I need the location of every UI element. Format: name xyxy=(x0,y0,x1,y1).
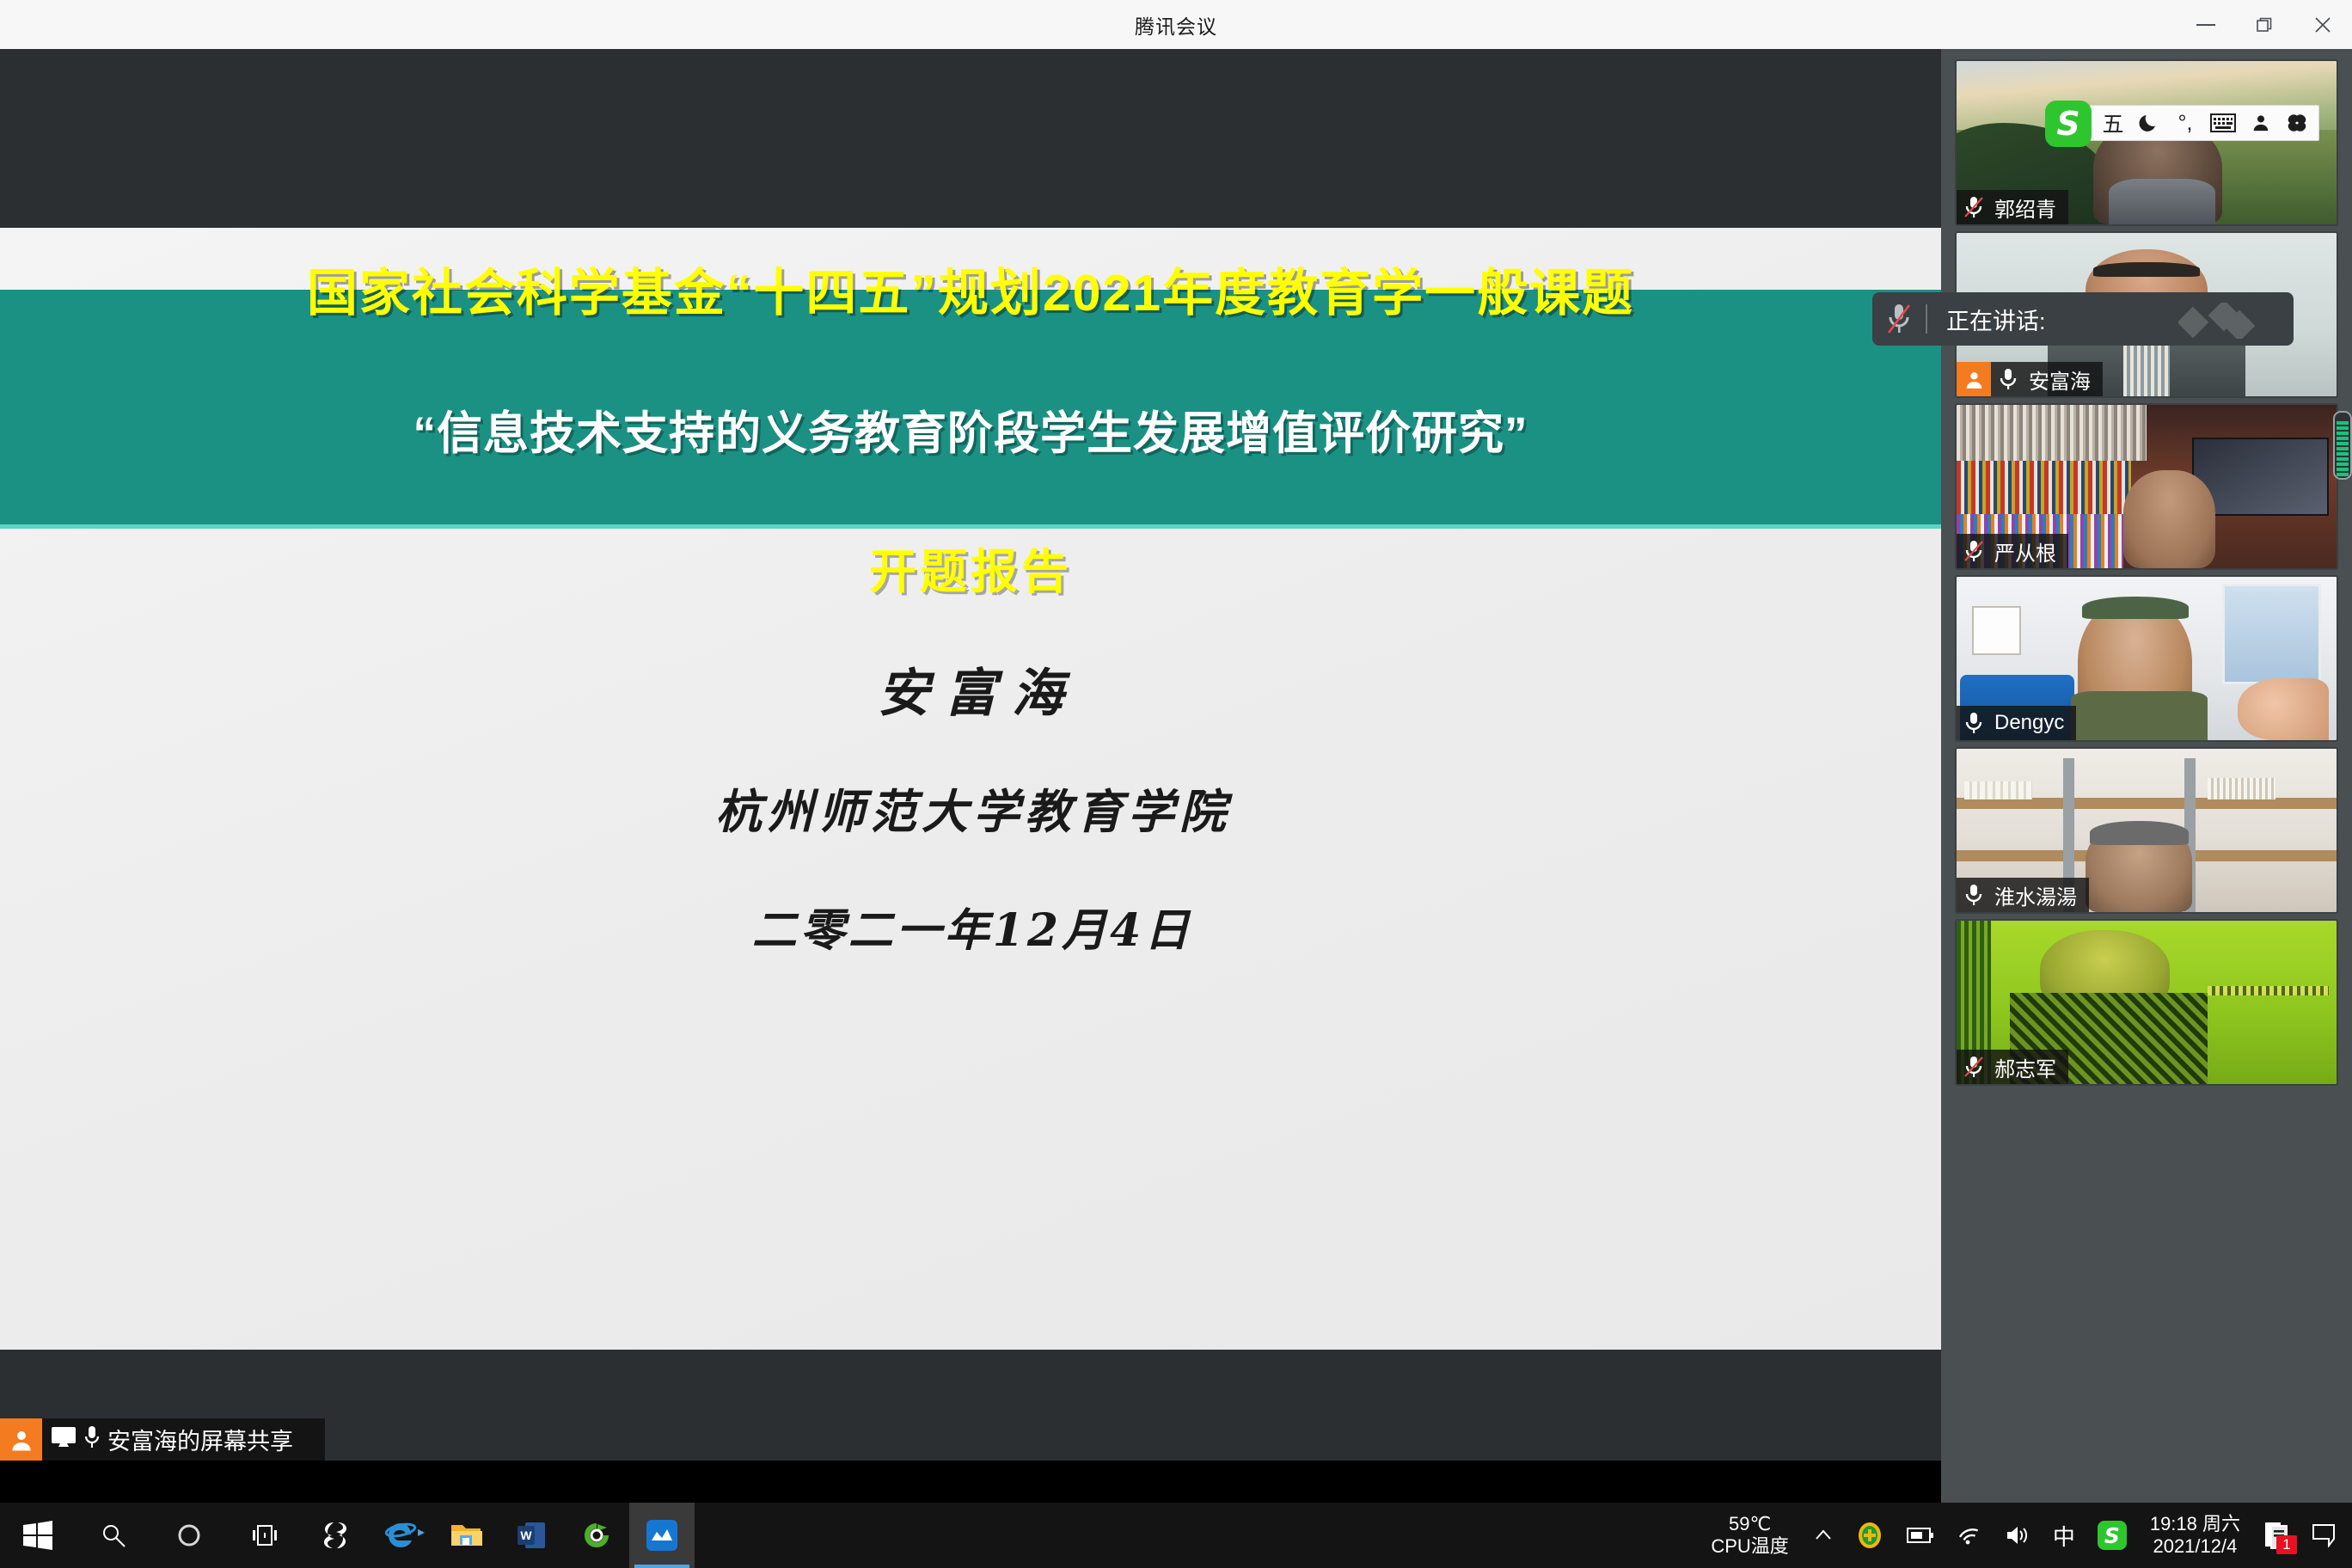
user-icon[interactable] xyxy=(2250,113,2272,132)
moon-icon[interactable] xyxy=(2138,113,2160,133)
punctuation-mode-icon[interactable]: °, xyxy=(2174,111,2196,136)
meter-bar xyxy=(2337,457,2349,461)
minimize-button[interactable] xyxy=(2177,0,2235,49)
svg-text:W: W xyxy=(520,1528,532,1542)
battery-icon[interactable] xyxy=(1896,1503,1945,1568)
search-icon[interactable] xyxy=(76,1503,151,1568)
wifi-icon[interactable] xyxy=(1945,1503,1994,1568)
microphone-muted-icon xyxy=(1872,292,1926,346)
meter-bar xyxy=(2337,468,2349,471)
slide-title-line2: “信息技术支持的义务教育阶段学生发展增值评价研究” xyxy=(0,397,1941,462)
participant-name: Dengyc xyxy=(1991,711,2064,735)
participant-name: 严从根 xyxy=(1991,536,2056,567)
sogou-ime-toolbar[interactable]: S 五 °, xyxy=(2063,105,2319,141)
window-controls xyxy=(2177,0,2352,49)
windows-taskbar: ▸ W 59℃ CPU温度 xyxy=(0,1503,2352,1568)
cpu-temp-label: CPU温度 xyxy=(1711,1535,1788,1558)
task-view-icon[interactable] xyxy=(227,1503,303,1568)
toolbox-icon[interactable] xyxy=(2286,113,2308,133)
start-button[interactable] xyxy=(0,1503,76,1568)
participant-tile[interactable]: 严从根 xyxy=(1955,403,2338,570)
participant-name-chip: Dengyc xyxy=(1957,706,2076,740)
screen-share-owner-label: 安富海的屏幕共享 xyxy=(101,1423,293,1456)
participants-sidebar[interactable]: 郭绍青 安富海 xyxy=(1941,49,2352,1503)
meter-bar xyxy=(2337,473,2349,476)
slide-date: 二零二一年12月4日 xyxy=(0,894,1941,959)
sogou-input-icon[interactable] xyxy=(303,1503,368,1568)
input-mode-wubi[interactable]: 五 xyxy=(2102,107,2124,138)
meter-bar xyxy=(2337,426,2349,430)
clock-time: 19:18 周六 xyxy=(2150,1513,2240,1535)
meter-bar xyxy=(2337,421,2349,425)
participant-name: 郭绍青 xyxy=(1991,193,2056,223)
meter-bar xyxy=(2337,447,2349,450)
microphone-icon xyxy=(83,1425,101,1454)
cortana-icon[interactable] xyxy=(151,1503,227,1568)
microphone-muted-icon xyxy=(1957,1055,1991,1079)
file-explorer-icon[interactable] xyxy=(433,1503,499,1568)
share-bar-icons xyxy=(42,1425,101,1454)
participant-name-chip: 郭绍青 xyxy=(1957,190,2068,224)
microphone-muted-icon xyxy=(1957,539,1991,563)
tencent-meeting-icon[interactable] xyxy=(629,1503,695,1568)
tencent-meeting-watermark-icon xyxy=(2178,303,2273,343)
participant-tile[interactable]: Dengyc xyxy=(1955,575,2338,742)
window-title-bar: 腾讯会议 xyxy=(0,0,2352,49)
participant-name-chip: 淮水湯湯 xyxy=(1957,878,2089,912)
sogou-logo-icon[interactable]: S xyxy=(2045,101,2092,147)
meter-bar xyxy=(2337,437,2349,440)
notes-icon[interactable]: 1 xyxy=(2252,1503,2300,1568)
internet-explorer-icon[interactable]: ▸ xyxy=(368,1503,433,1568)
restore-button[interactable] xyxy=(2235,0,2294,49)
person-avatar-icon xyxy=(0,1418,42,1461)
slide-affiliation: 杭州师范大学教育学院 xyxy=(0,774,1941,842)
slide-title-line3: 开题报告 xyxy=(0,533,1941,602)
microphone-muted-icon xyxy=(1957,195,1991,219)
slide-author: 安富海 xyxy=(0,652,1941,726)
person-avatar-icon xyxy=(1957,362,1991,396)
meter-bar xyxy=(2337,432,2349,435)
participant-name-chip: 郝志军 xyxy=(1957,1050,2068,1084)
screen-share-icon xyxy=(51,1426,77,1453)
show-hidden-icons-button[interactable] xyxy=(1803,1503,1844,1568)
participant-tile[interactable]: 郝志军 xyxy=(1955,919,2338,1086)
slide-title-line1: 国家社会科学基金“十四五”规划2021年度教育学一般课题 xyxy=(0,252,1941,325)
microphone-icon xyxy=(1991,367,2025,391)
clock-date: 2021/12/4 xyxy=(2153,1535,2237,1558)
keyboard-icon[interactable] xyxy=(2210,113,2236,132)
meeting-stage: 国家社会科学基金“十四五”规划2021年度教育学一般课题 “信息技术支持的义务教… xyxy=(0,49,1941,1503)
action-center-icon[interactable] xyxy=(2300,1503,2347,1568)
presentation-slide: 国家社会科学基金“十四五”规划2021年度教育学一般课题 “信息技术支持的义务教… xyxy=(0,228,1941,1350)
close-button[interactable] xyxy=(2294,0,2352,49)
meter-bar xyxy=(2337,452,2349,456)
speaking-label: 正在讲话: xyxy=(1927,303,2046,336)
window-title: 腾讯会议 xyxy=(1135,10,1217,40)
notes-badge: 1 xyxy=(2276,1535,2297,1554)
speaking-toast: 正在讲话: xyxy=(1872,292,2294,346)
sogou-tray-icon[interactable]: S xyxy=(2086,1503,2138,1568)
participant-name: 淮水湯湯 xyxy=(1991,880,2077,910)
shared-screen-area[interactable]: 国家社会科学基金“十四五”规划2021年度教育学一般课题 “信息技术支持的义务教… xyxy=(0,49,1941,1461)
screen-share-owner-bar: 安富海的屏幕共享 xyxy=(0,1418,325,1461)
cpu-temperature: 59℃ CPU温度 xyxy=(1697,1513,1802,1558)
microphone-icon xyxy=(1957,711,1991,735)
clock[interactable]: 19:18 周六 2021/12/4 xyxy=(2138,1513,2252,1559)
sogou-tray-logo[interactable]: S xyxy=(2098,1521,2127,1550)
participant-name: 郝志军 xyxy=(1991,1052,2056,1082)
microphone-icon xyxy=(1957,883,1991,907)
participant-tile[interactable]: 郭绍青 xyxy=(1955,59,2338,226)
cpu-temp-value: 59℃ xyxy=(1729,1513,1771,1535)
360-browser-icon[interactable] xyxy=(564,1503,629,1568)
meter-bar xyxy=(2337,442,2349,445)
participant-name-chip: 安富海 xyxy=(1957,362,2103,396)
microsoft-word-icon[interactable]: W xyxy=(499,1503,564,1568)
participant-name-chip: 严从根 xyxy=(1957,534,2068,568)
participant-name: 安富海 xyxy=(2025,364,2091,395)
ime-language-indicator[interactable]: 中 xyxy=(2042,1503,2086,1568)
system-tray: 59℃ CPU温度 中 S 19:18 周六 2021/12/4 1 xyxy=(1697,1503,2352,1568)
audio-level-meter xyxy=(2333,411,2352,480)
taskbar-apps: ▸ W xyxy=(0,1503,695,1568)
volume-icon[interactable] xyxy=(1994,1503,2042,1568)
360-security-icon[interactable] xyxy=(1844,1503,1896,1568)
meter-bar xyxy=(2337,462,2349,466)
participant-tile[interactable]: 淮水湯湯 xyxy=(1955,747,2338,914)
